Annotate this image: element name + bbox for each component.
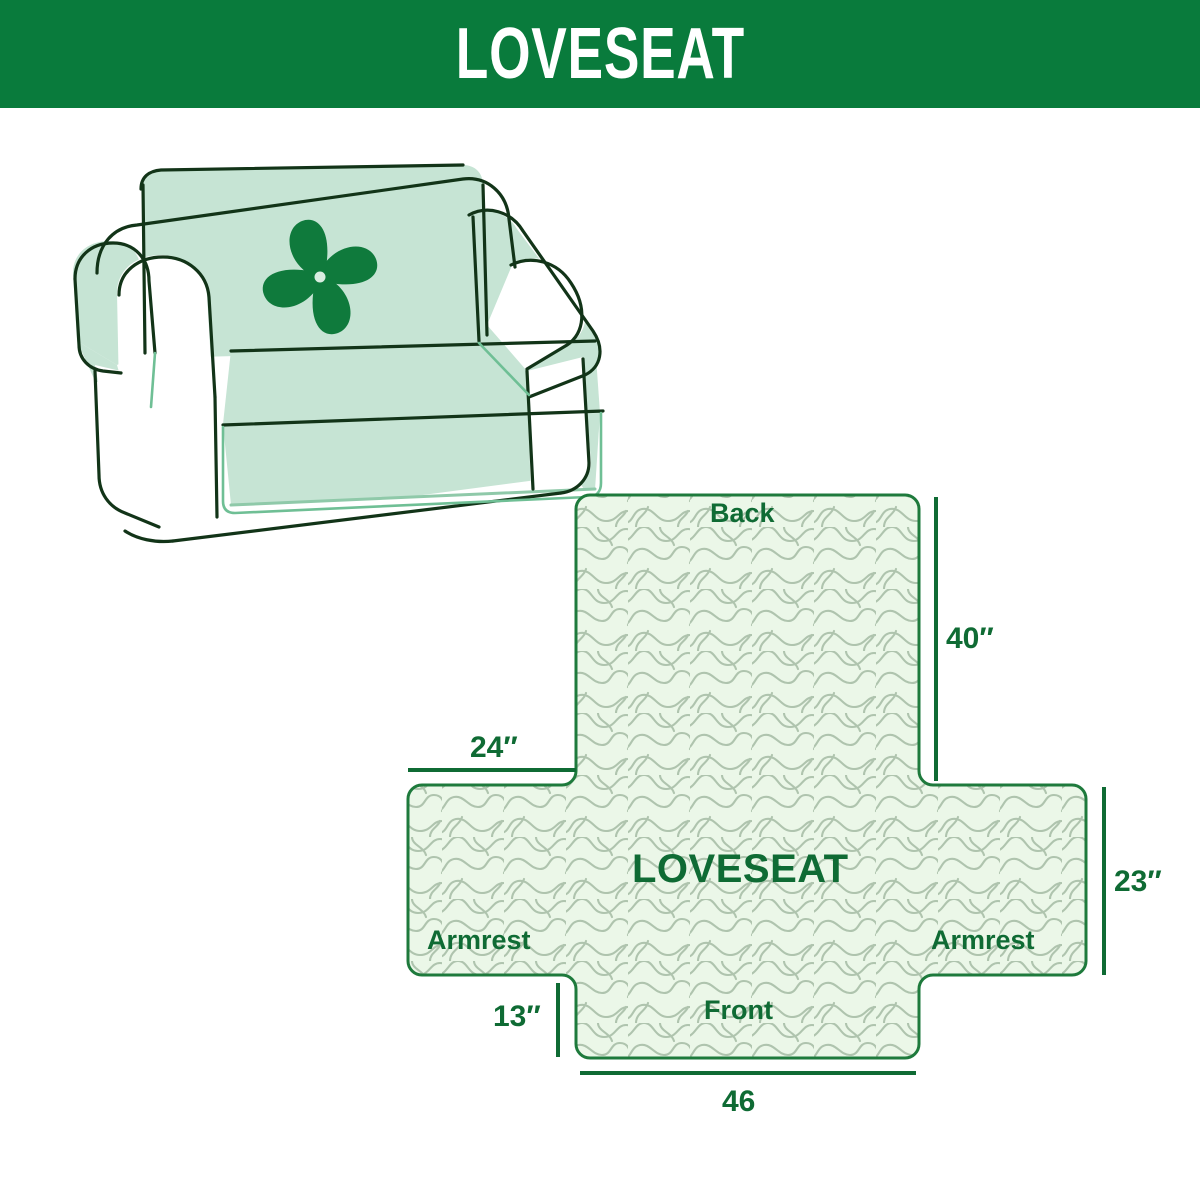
dimension-label-armrest-height: 23″ <box>1114 865 1162 899</box>
page-title: LOVESEAT <box>455 18 744 90</box>
pattern-label-armrest-right: Armrest <box>931 925 1035 956</box>
header-banner: LOVESEAT <box>0 0 1200 108</box>
pattern-label-armrest-left: Armrest <box>427 925 531 956</box>
dimension-label-back-height: 40″ <box>946 622 994 656</box>
pattern-label-back: Back <box>710 498 775 529</box>
cover-pattern-diagram: Back LOVESEAT Armrest Armrest Front 40″ … <box>380 465 1180 1145</box>
cover-pattern-svg <box>380 465 1180 1145</box>
product-dimension-page: LOVESEAT <box>0 0 1200 1200</box>
dimension-label-armrest-width: 24″ <box>470 731 518 765</box>
dimension-label-front-height: 13″ <box>493 1000 541 1034</box>
pattern-body <box>380 465 1180 1145</box>
pattern-label-front: Front <box>704 995 773 1026</box>
dimension-label-front-width: 46 <box>722 1085 755 1119</box>
pattern-label-center: LOVESEAT <box>632 847 849 892</box>
